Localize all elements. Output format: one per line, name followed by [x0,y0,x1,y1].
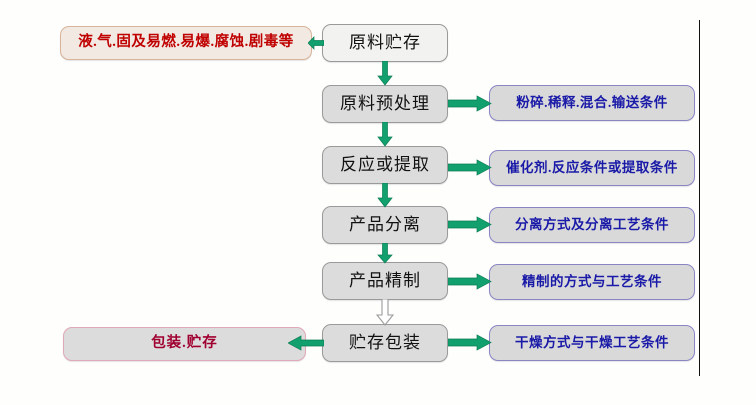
condition-note-refining-conditions[interactable]: 精制的方式与工艺条件 [489,264,695,300]
connector-pretreatment-to-note [448,95,492,112]
connector-packaging-to-output [288,335,324,351]
side-note-packaging-storage-output[interactable]: 包装.贮存 [63,327,306,361]
flowchart-canvas: 原料贮存 原料预处理 反应或提取 产品分离 产品精制 贮存包装 粉碎.稀释.混合… [0,0,756,405]
process-node-storage-and-packaging[interactable]: 贮存包装 [322,324,448,362]
connector-packaging-to-note [448,334,492,351]
connector-separation-to-note [448,216,492,233]
condition-note-label: 催化剂.反应条件或提取条件 [506,161,678,176]
process-node-label: 原料预处理 [340,95,430,114]
condition-note-reaction-conditions[interactable]: 催化剂.反应条件或提取条件 [489,150,695,186]
process-node-product-separation[interactable]: 产品分离 [322,206,448,244]
process-node-label: 产品分离 [349,216,421,235]
connector-reaction-to-separation [377,183,393,208]
connector-separation-to-refining [377,243,393,264]
condition-note-label: 粉碎.稀释.混合.输送条件 [516,96,668,111]
condition-note-pretreatment-conditions[interactable]: 粉碎.稀释.混合.输送条件 [489,85,695,121]
side-note-label: 液.气.固及易燃.易爆.腐蚀.剧毒等 [78,35,294,51]
connector-refining-to-note [448,273,492,290]
side-note-hazard-classes[interactable]: 液.气.固及易燃.易爆.腐蚀.剧毒等 [60,26,312,60]
process-node-raw-material-storage[interactable]: 原料贮存 [322,24,448,62]
connector-refining-to-packaging [376,299,394,326]
process-node-raw-material-pretreatment[interactable]: 原料预处理 [322,85,448,123]
connector-reaction-to-note [448,159,492,176]
process-node-label: 贮存包装 [349,334,421,353]
process-node-label: 反应或提取 [340,156,430,175]
process-node-reaction-or-extraction[interactable]: 反应或提取 [322,146,448,184]
connector-pretreatment-to-reaction [377,122,393,147]
condition-note-label: 干燥方式与干燥工艺条件 [515,336,669,351]
connector-storage-to-hazards [308,36,324,50]
process-node-label: 产品精制 [349,272,421,291]
condition-note-label: 分离方式及分离工艺条件 [515,218,669,233]
right-edge-rule [699,20,700,376]
side-note-label: 包装.贮存 [151,336,218,352]
process-node-product-refining[interactable]: 产品精制 [322,262,448,300]
condition-note-label: 精制的方式与工艺条件 [522,275,662,290]
process-node-label: 原料贮存 [349,34,421,53]
connector-storage-to-pretreatment [377,61,393,86]
condition-note-drying-conditions[interactable]: 干燥方式与干燥工艺条件 [489,325,695,361]
condition-note-separation-conditions[interactable]: 分离方式及分离工艺条件 [489,207,695,243]
